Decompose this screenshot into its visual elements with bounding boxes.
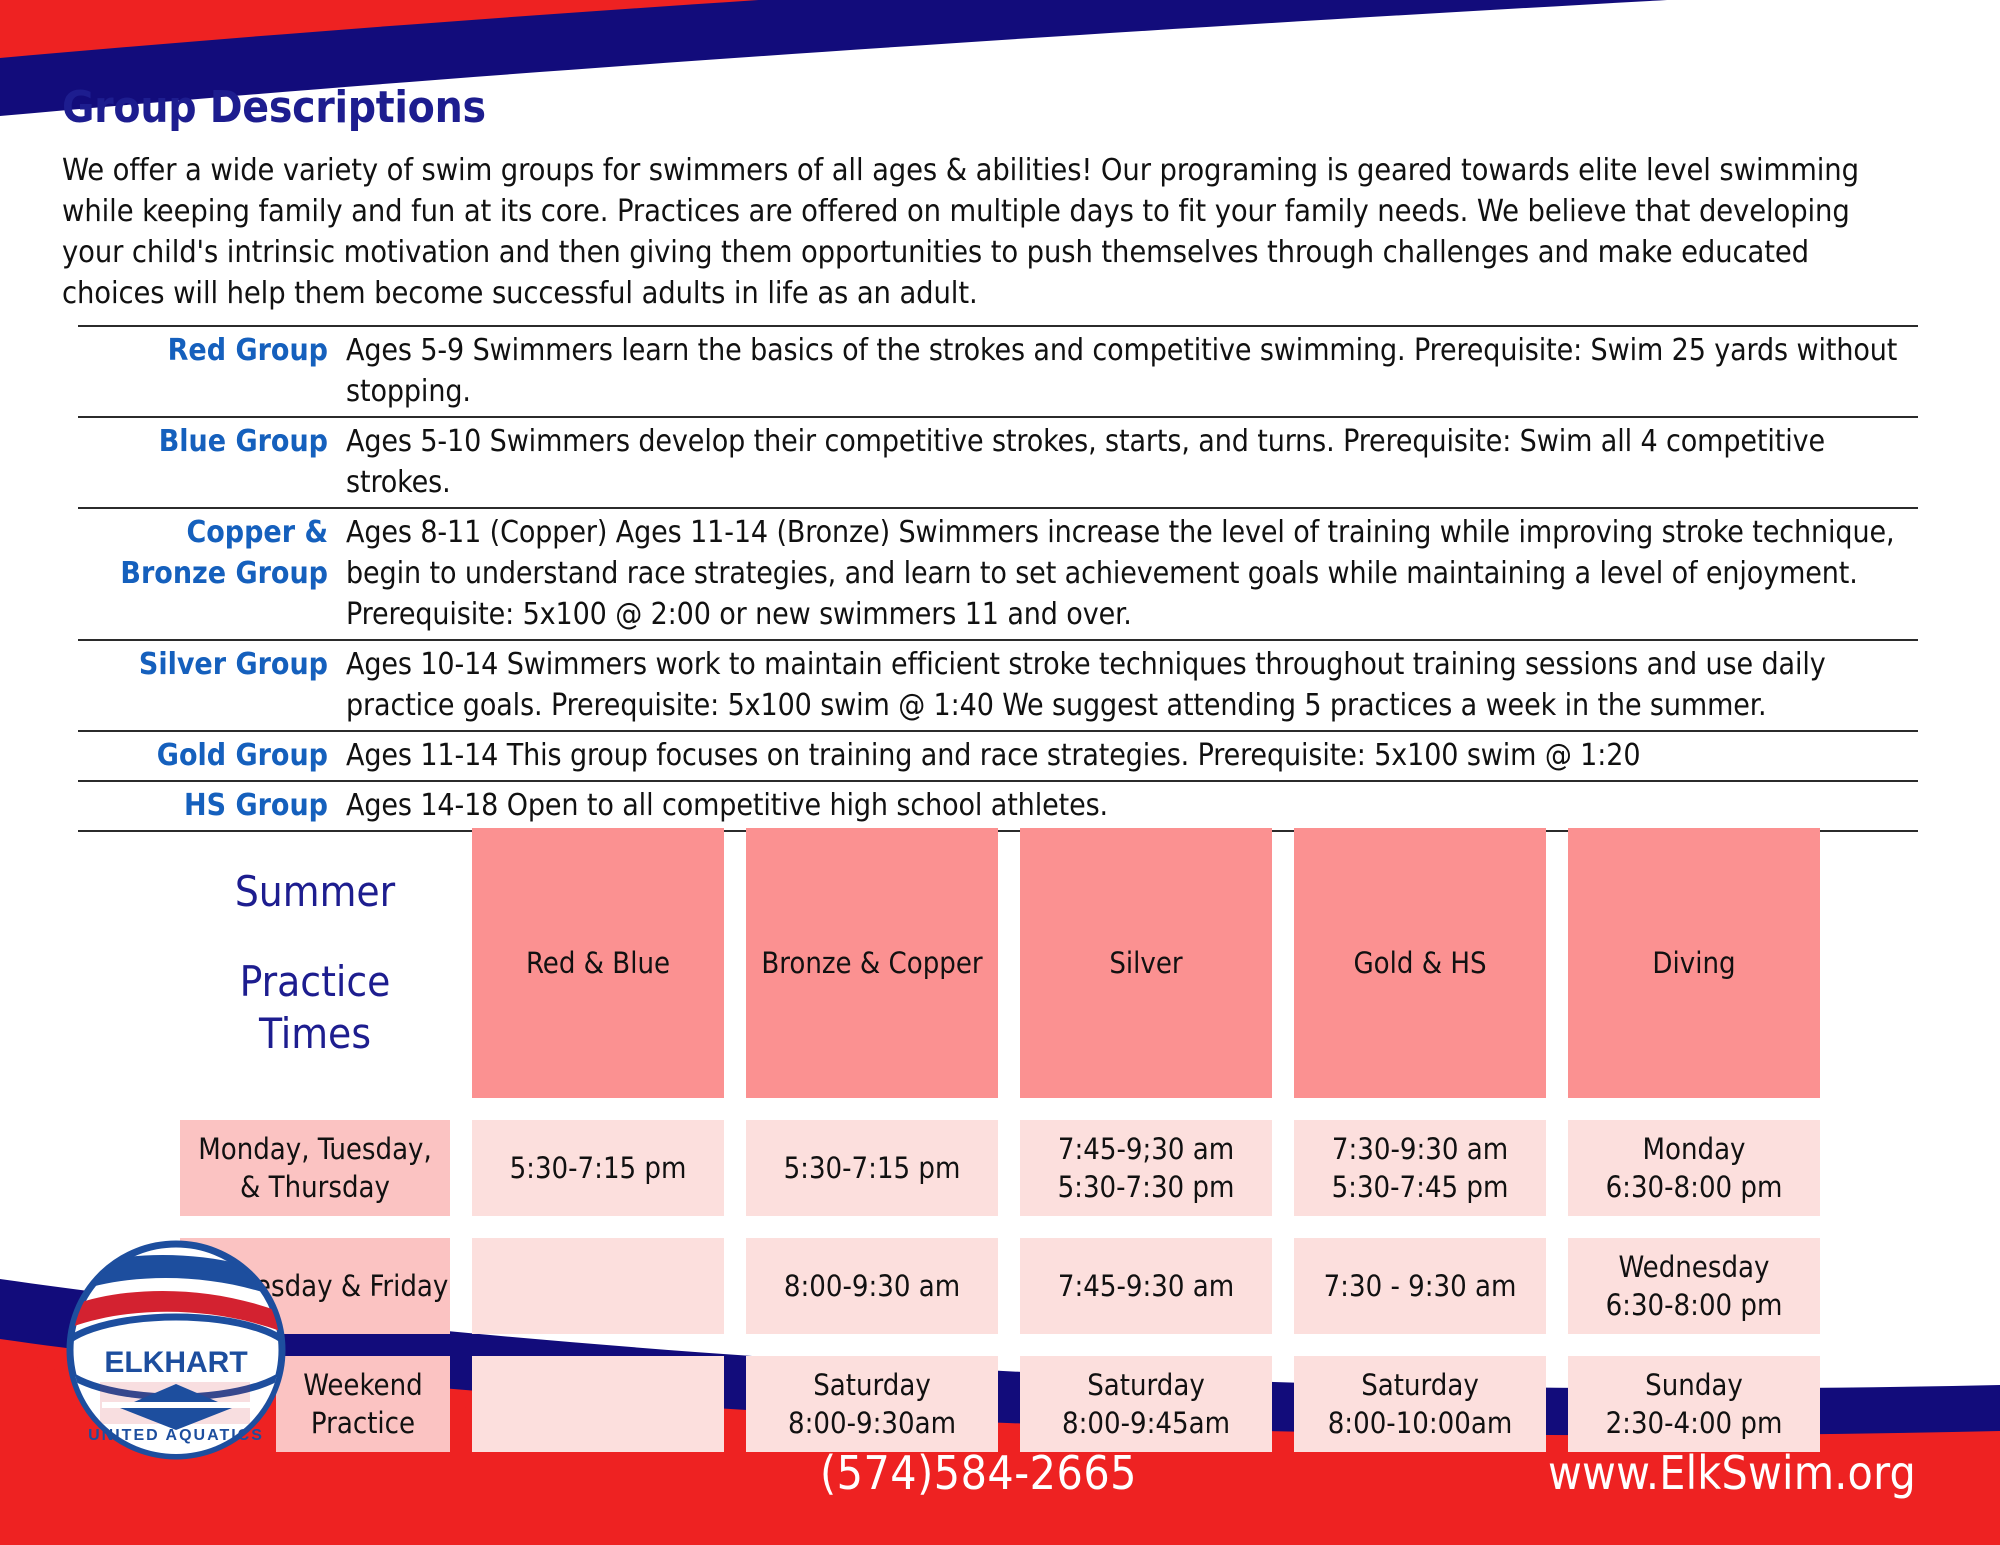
table-row: Blue Group Ages 5-10 Swimmers develop th… — [78, 417, 1918, 508]
schedule-cell — [472, 1238, 724, 1334]
column-header-red-blue: Red & Blue — [472, 828, 724, 1098]
footer-website[interactable]: www.ElkSwim.org — [1548, 1446, 1916, 1500]
schedule-row: Monday, Tuesday, & Thursday 5:30-7:15 pm… — [180, 1120, 1940, 1216]
group-descriptions-table: Red Group Ages 5-9 Swimmers learn the ba… — [78, 325, 1918, 832]
group-label: HS Group — [78, 781, 342, 831]
footer-phone[interactable]: (574)584-2665 — [820, 1446, 1137, 1500]
schedule-cell: Saturday 8:00-9:45am — [1020, 1356, 1272, 1452]
schedule-cell: 7:30-9:30 am 5:30-7:45 pm — [1294, 1120, 1546, 1216]
group-description: Ages 14-18 Open to all competitive high … — [342, 781, 1918, 831]
logo-subtitle: UNITED AQUATICS — [88, 1427, 264, 1444]
table-row: Red Group Ages 5-9 Swimmers learn the ba… — [78, 326, 1918, 417]
schedule-title: Summer Practice Times — [180, 828, 450, 1098]
intro-paragraph: We offer a wide variety of swim groups f… — [62, 150, 1902, 314]
elkhart-united-aquatics-logo: ELKHART UNITED AQUATICS — [40, 1232, 312, 1462]
group-label: Copper & Bronze Group — [78, 508, 342, 640]
schedule-cell: 8:00-9:30 am — [746, 1238, 998, 1334]
group-label: Blue Group — [78, 417, 342, 508]
schedule-cell: 7:45-9;30 am 5:30-7:30 pm — [1020, 1120, 1272, 1216]
table-row: Copper & Bronze Group Ages 8-11 (Copper)… — [78, 508, 1918, 640]
column-header-gold-hs: Gold & HS — [1294, 828, 1546, 1098]
schedule-header-row: Summer Practice Times Red & Blue Bronze … — [180, 828, 1940, 1098]
schedule-cell: Monday 6:30-8:00 pm — [1568, 1120, 1820, 1216]
row-label-mon-tue-thu: Monday, Tuesday, & Thursday — [180, 1120, 450, 1216]
schedule-cell: Saturday 8:00-9:30am — [746, 1356, 998, 1452]
page-title: Group Descriptions — [62, 82, 486, 133]
group-label: Gold Group — [78, 731, 342, 781]
group-description: Ages 11-14 This group focuses on trainin… — [342, 731, 1918, 781]
column-header-bronze-copper: Bronze & Copper — [746, 828, 998, 1098]
flyer-page: Group Descriptions We offer a wide varie… — [0, 0, 2000, 1545]
group-label: Red Group — [78, 326, 342, 417]
schedule-cell: 7:30 - 9:30 am — [1294, 1238, 1546, 1334]
table-row: Silver Group Ages 10-14 Swimmers work to… — [78, 640, 1918, 731]
group-description: Ages 8-11 (Copper) Ages 11-14 (Bronze) S… — [342, 508, 1918, 640]
column-header-silver: Silver — [1020, 828, 1272, 1098]
schedule-cell: Sunday 2:30-4:00 pm — [1568, 1356, 1820, 1452]
column-header-diving: Diving — [1568, 828, 1820, 1098]
schedule-cell: Wednesday 6:30-8:00 pm — [1568, 1238, 1820, 1334]
schedule-title-line1: Summer — [186, 866, 444, 918]
group-description: Ages 5-9 Swimmers learn the basics of th… — [342, 326, 1918, 417]
schedule-cell: Saturday 8:00-10:00am — [1294, 1356, 1546, 1452]
schedule-title-line2: Practice Times — [186, 956, 444, 1060]
logo-name: ELKHART — [104, 1346, 247, 1379]
schedule-row: Wednesday & Friday 8:00-9:30 am 7:45-9:3… — [180, 1238, 1940, 1334]
group-description: Ages 5-10 Swimmers develop their competi… — [342, 417, 1918, 508]
table-row: HS Group Ages 14-18 Open to all competit… — [78, 781, 1918, 831]
schedule-cell: 5:30-7:15 pm — [746, 1120, 998, 1216]
group-description: Ages 10-14 Swimmers work to maintain eff… — [342, 640, 1918, 731]
group-label: Silver Group — [78, 640, 342, 731]
table-row: Gold Group Ages 11-14 This group focuses… — [78, 731, 1918, 781]
schedule-cell: 7:45-9:30 am — [1020, 1238, 1272, 1334]
schedule-row: Weekend Practice Saturday 8:00-9:30am Sa… — [180, 1356, 1940, 1452]
schedule-cell — [472, 1356, 724, 1452]
summer-practice-times-table: Summer Practice Times Red & Blue Bronze … — [180, 828, 1940, 1452]
schedule-cell: 5:30-7:15 pm — [472, 1120, 724, 1216]
